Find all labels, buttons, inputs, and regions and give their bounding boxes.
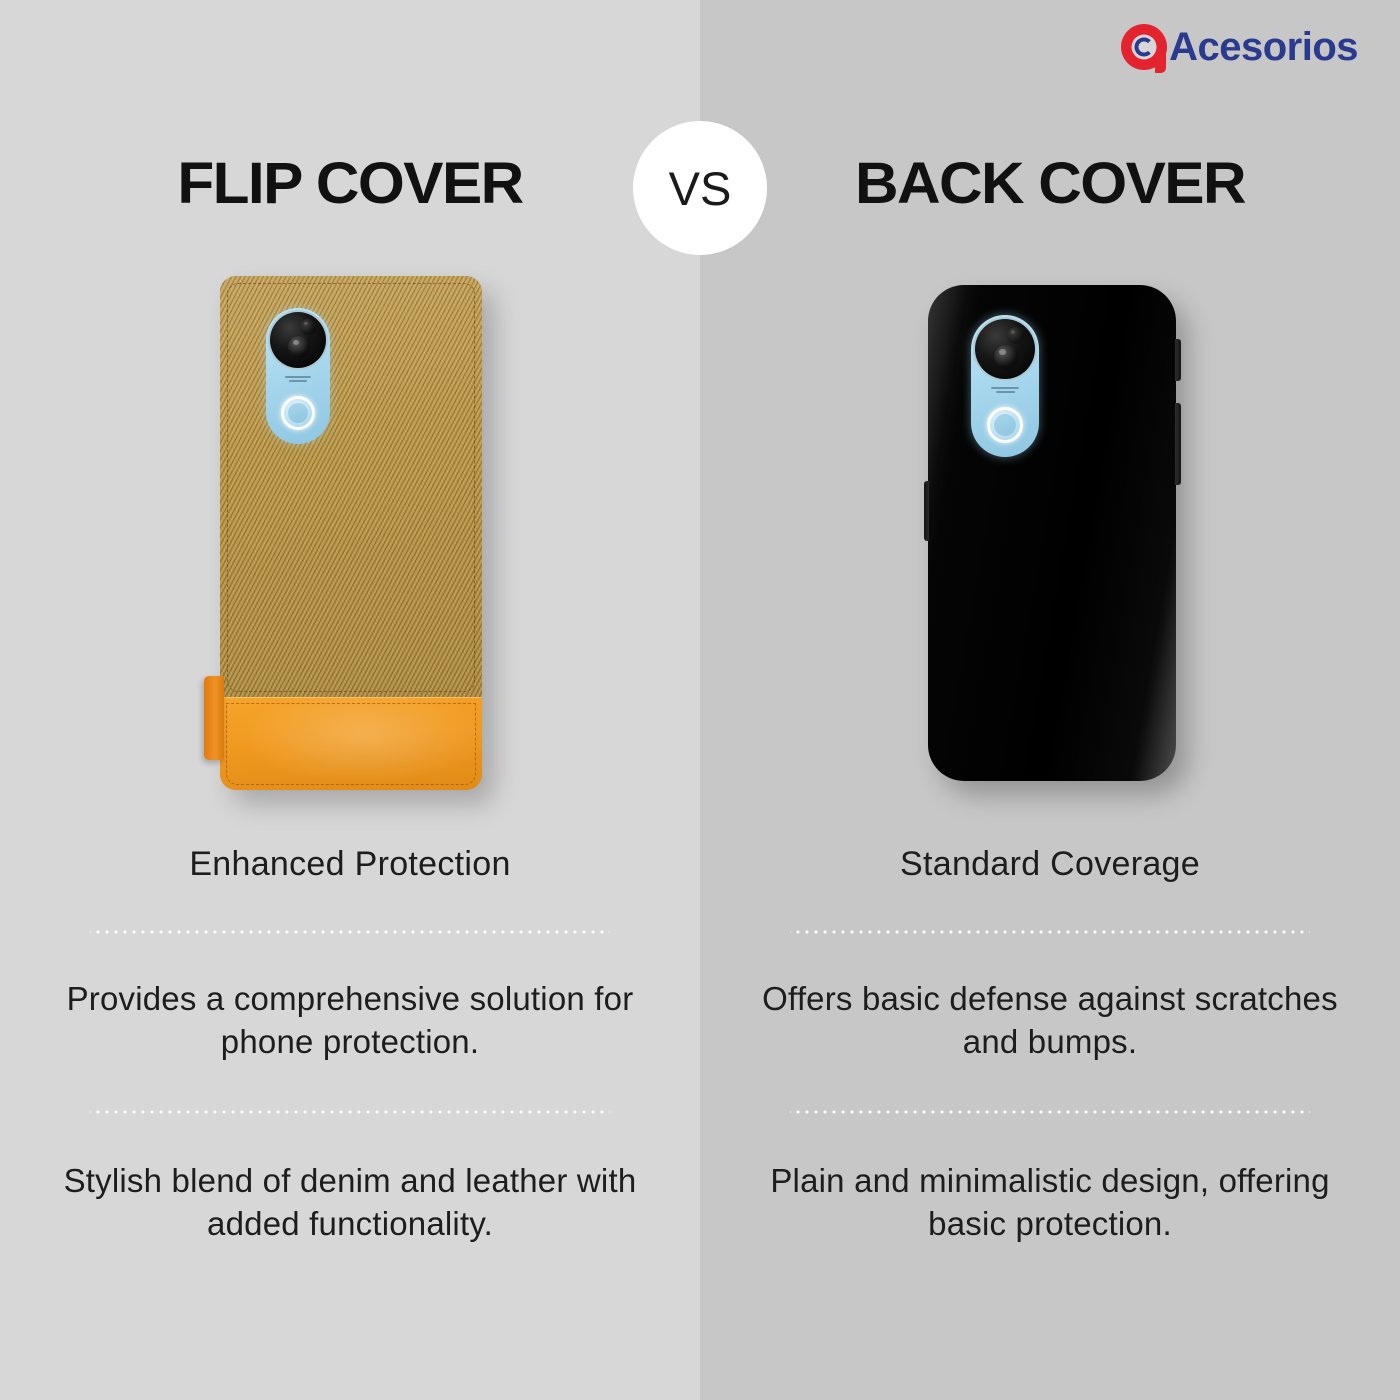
back-cover-edge-highlight bbox=[928, 285, 1176, 781]
dotted-divider bbox=[790, 930, 1310, 934]
back-cover-phone-case bbox=[928, 285, 1176, 781]
feature-column-flip-cover: Enhanced Protection Provides a comprehen… bbox=[50, 845, 650, 1246]
heading-flip-cover: FLIP COVER bbox=[38, 150, 662, 217]
dotted-divider bbox=[90, 930, 610, 934]
camera-lens-secondary bbox=[1007, 327, 1024, 344]
camera-lens-cluster bbox=[268, 310, 328, 370]
denim-stitching bbox=[227, 283, 475, 692]
feature-item: Plain and minimalistic design, offering … bbox=[750, 1160, 1350, 1246]
leather-sheen bbox=[220, 698, 482, 790]
flip-cover-body bbox=[220, 276, 482, 790]
denim-fabric-panel bbox=[220, 276, 482, 697]
subtitle-enhanced-protection: Enhanced Protection bbox=[50, 845, 650, 884]
vs-badge: VS bbox=[633, 121, 767, 255]
feature-column-back-cover: Standard Coverage Offers basic defense a… bbox=[750, 845, 1350, 1246]
side-switch-cutout bbox=[924, 481, 929, 541]
brand-logo: Acesorios bbox=[1121, 24, 1358, 70]
camera-flash-ring-icon bbox=[281, 396, 315, 430]
flip-cover-closure-tab bbox=[204, 676, 224, 760]
dotted-divider bbox=[90, 1110, 610, 1114]
subtitle-standard-coverage: Standard Coverage bbox=[750, 845, 1350, 884]
volume-button-cutout bbox=[1175, 403, 1181, 485]
acesorios-mark-icon bbox=[1121, 24, 1167, 70]
feature-item: Stylish blend of denim and leather with … bbox=[50, 1160, 650, 1246]
flip-cover-phone-case bbox=[220, 276, 482, 790]
camera-module-icon bbox=[971, 315, 1039, 457]
camera-lens-main bbox=[994, 345, 1018, 369]
brand-logo-text: Acesorios bbox=[1169, 27, 1358, 67]
leather-panel bbox=[220, 697, 482, 790]
dotted-divider bbox=[790, 1110, 1310, 1114]
power-button-cutout bbox=[1175, 339, 1181, 381]
camera-markings bbox=[285, 376, 311, 382]
camera-markings bbox=[991, 387, 1019, 393]
camera-flash-ring-icon bbox=[987, 407, 1023, 443]
camera-lens-secondary bbox=[300, 319, 316, 335]
camera-lens-cluster bbox=[973, 317, 1037, 381]
feature-item: Provides a comprehensive solution for ph… bbox=[50, 978, 650, 1064]
camera-module-icon bbox=[266, 308, 330, 444]
feature-item: Offers basic defense against scratches a… bbox=[750, 978, 1350, 1064]
heading-back-cover: BACK COVER bbox=[738, 150, 1362, 217]
camera-lens-main bbox=[288, 336, 310, 358]
